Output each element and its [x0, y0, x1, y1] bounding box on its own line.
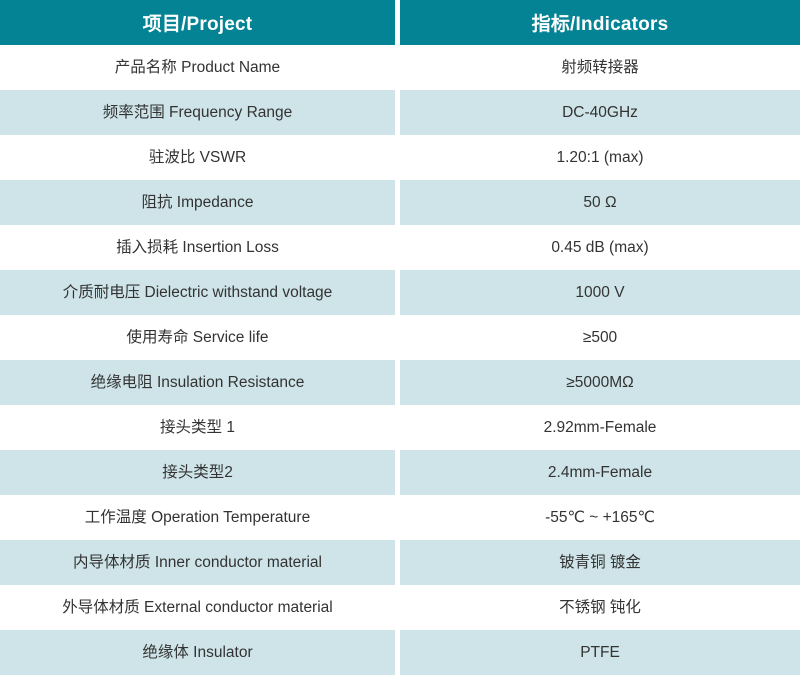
table-row: 绝缘电阻 Insulation Resistance≥5000MΩ	[0, 360, 800, 405]
table-row: 驻波比 VSWR1.20:1 (max)	[0, 135, 800, 180]
cell-project: 驻波比 VSWR	[0, 135, 400, 180]
specification-table: 项目/Project 指标/Indicators 产品名称 Product Na…	[0, 0, 800, 675]
cell-indicator: 50 Ω	[400, 180, 800, 225]
cell-indicator: DC-40GHz	[400, 90, 800, 135]
table-row: 阻抗 Impedance50 Ω	[0, 180, 800, 225]
cell-project: 产品名称 Product Name	[0, 45, 400, 90]
cell-project: 阻抗 Impedance	[0, 180, 400, 225]
cell-project: 绝缘电阻 Insulation Resistance	[0, 360, 400, 405]
cell-indicator: 铍青铜 镀金	[400, 540, 800, 585]
cell-indicator: 1.20:1 (max)	[400, 135, 800, 180]
table-row: 插入损耗 Insertion Loss0.45 dB (max)	[0, 225, 800, 270]
cell-indicator: -55℃ ~ +165℃	[400, 495, 800, 540]
column-header-project: 项目/Project	[0, 0, 400, 45]
table-row: 接头类型22.4mm-Female	[0, 450, 800, 495]
cell-indicator: 2.92mm-Female	[400, 405, 800, 450]
table-row: 接头类型 12.92mm-Female	[0, 405, 800, 450]
header-row: 项目/Project 指标/Indicators	[0, 0, 800, 45]
column-header-indicator: 指标/Indicators	[400, 0, 800, 45]
table-body: 产品名称 Product Name射频转接器频率范围 Frequency Ran…	[0, 45, 800, 675]
cell-indicator: ≥5000MΩ	[400, 360, 800, 405]
cell-project: 绝缘体 Insulator	[0, 630, 400, 675]
table-row: 绝缘体 InsulatorPTFE	[0, 630, 800, 675]
cell-indicator: PTFE	[400, 630, 800, 675]
cell-indicator: 0.45 dB (max)	[400, 225, 800, 270]
cell-project: 介质耐电压 Dielectric withstand voltage	[0, 270, 400, 315]
cell-project: 外导体材质 External conductor material	[0, 585, 400, 630]
cell-project: 工作温度 Operation Temperature	[0, 495, 400, 540]
cell-project: 频率范围 Frequency Range	[0, 90, 400, 135]
table-row: 介质耐电压 Dielectric withstand voltage1000 V	[0, 270, 800, 315]
cell-indicator: 2.4mm-Female	[400, 450, 800, 495]
cell-project: 接头类型2	[0, 450, 400, 495]
cell-indicator: 不锈钢 钝化	[400, 585, 800, 630]
cell-project: 接头类型 1	[0, 405, 400, 450]
table-row: 外导体材质 External conductor material不锈钢 钝化	[0, 585, 800, 630]
table-row: 产品名称 Product Name射频转接器	[0, 45, 800, 90]
cell-indicator: 射频转接器	[400, 45, 800, 90]
table-row: 使用寿命 Service life≥500	[0, 315, 800, 360]
table-header: 项目/Project 指标/Indicators	[0, 0, 800, 45]
cell-project: 使用寿命 Service life	[0, 315, 400, 360]
cell-indicator: 1000 V	[400, 270, 800, 315]
cell-project: 内导体材质 Inner conductor material	[0, 540, 400, 585]
table-row: 工作温度 Operation Temperature-55℃ ~ +165℃	[0, 495, 800, 540]
table-row: 内导体材质 Inner conductor material铍青铜 镀金	[0, 540, 800, 585]
cell-project: 插入损耗 Insertion Loss	[0, 225, 400, 270]
cell-indicator: ≥500	[400, 315, 800, 360]
table-row: 频率范围 Frequency RangeDC-40GHz	[0, 90, 800, 135]
